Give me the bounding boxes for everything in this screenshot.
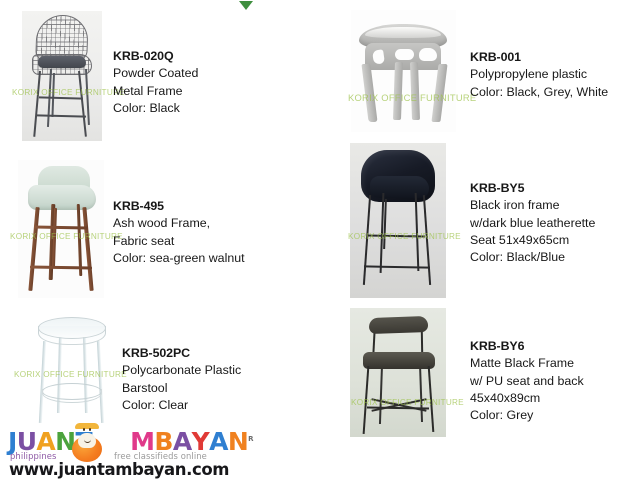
product-line: Seat 51x49x65cm [470,232,595,249]
product-line: Black iron frame [470,197,595,214]
product-specs-krb-001: KRB-001 Polypropylene plastic Color: Bla… [470,49,608,101]
product-photo-krb-by5 [350,143,446,298]
mascot-eye [83,428,85,431]
product-specs-krb-by5: KRB-BY5 Black iron frame w/dark blue lea… [470,180,595,266]
product-line: w/ PU seat and back [470,373,584,390]
product-line: Ash wood Frame, [113,215,245,232]
product-code: KRB-502PC [122,345,241,362]
product-line: Powder Coated [113,65,198,82]
product-photo-krb-by6 [350,308,446,437]
product-photo-krb-020q [22,11,102,141]
product-code: KRB-495 [113,198,245,215]
product-photo-krb-502pc [22,305,122,435]
product-photo-krb-001 [351,10,456,132]
product-specs-krb-020q: KRB-020Q Powder Coated Metal Frame Color… [113,48,198,117]
barstool-cushion [38,56,86,68]
stool-cutout [395,49,414,60]
mascot-smile [84,438,91,443]
product-specs-krb-by6: KRB-BY6 Matte Black Frame w/ PU seat and… [470,338,584,424]
product-line: Fabric seat [113,233,245,250]
mascot-eye [89,428,91,431]
product-line: Polycarbonate Plastic [122,362,241,379]
product-line: Metal Frame [113,83,198,100]
product-line: Color: Clear [122,397,241,414]
product-specs-krb-495: KRB-495 Ash wood Frame, Fabric seat Colo… [113,198,245,267]
product-line: Barstool [122,380,241,397]
product-code: KRB-001 [470,49,608,66]
product-line: Color: Black, Grey, White [470,84,608,101]
logo-letter: N [228,429,248,455]
logo-letter: A [209,429,228,455]
product-line: Matte Black Frame [470,355,584,372]
mascot-hat [75,423,99,429]
product-line: Color: sea-green walnut [113,250,245,267]
product-specs-krb-502pc: KRB-502PC Polycarbonate Plastic Barstool… [122,345,241,414]
product-line: Color: Black/Blue [470,249,595,266]
chevron-down-icon [239,1,253,10]
barstool-backrest [369,316,429,334]
product-line: w/dark blue leatherette [470,215,595,232]
product-line: Color: Grey [470,407,584,424]
barstool-seat-top [38,317,106,339]
product-line: Color: Black [113,100,198,117]
product-line: 45x40x89cm [470,390,584,407]
juantambayan-mascot-icon [72,424,102,458]
logo-website-url[interactable]: www.juantambayan.com [9,460,229,479]
product-code: KRB-020Q [113,48,198,65]
product-photo-krb-495 [18,160,104,298]
catalog-page: KORIX OFFICE FURNITURE KRB-020Q Powder C… [0,0,640,480]
barstool-pu-seat [363,352,435,369]
stool-cutout [419,48,437,61]
juantambayan-logo[interactable]: JUANT MBAYANR philippines free classifie… [6,424,220,478]
product-line: Polypropylene plastic [470,66,608,83]
trademark-mark: R [248,426,253,452]
product-code: KRB-BY5 [470,180,595,197]
product-code: KRB-BY6 [470,338,584,355]
